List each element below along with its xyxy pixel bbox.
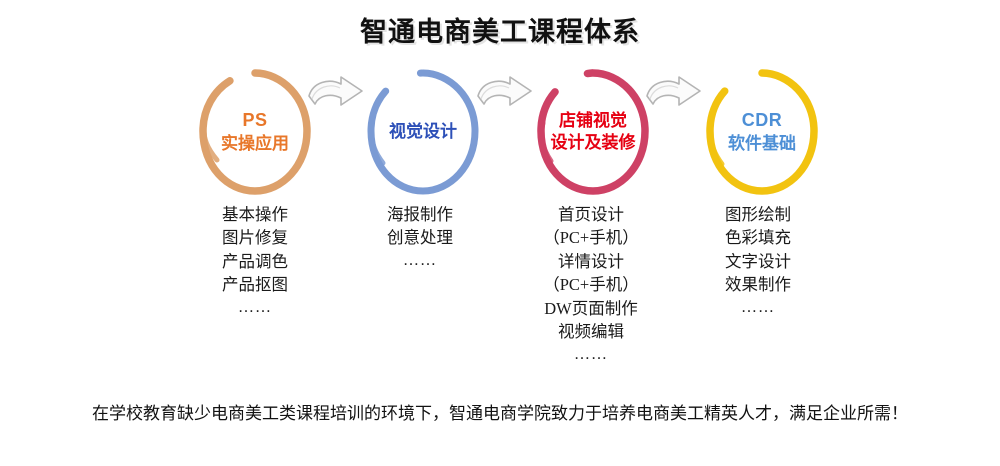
list-item: （PC+手机） <box>496 226 686 249</box>
list-item: （PC+手机） <box>496 273 686 296</box>
flow-node-label: 视觉设计 <box>361 68 485 196</box>
list-item: 文字设计 <box>663 250 853 273</box>
list-ellipsis: …… <box>663 297 853 320</box>
list-item: 基本操作 <box>160 203 350 226</box>
flow-node-store-visual[interactable]: 店铺视觉 设计及装修 <box>531 68 655 196</box>
footer-tagline: 在学校教育缺少电商美工类课程培训的环境下，智通电商学院致力于培养电商美工精英人才… <box>0 399 1000 424</box>
list-item: 产品抠图 <box>160 273 350 296</box>
flow-node-label: PS 实操应用 <box>193 68 317 196</box>
flow-node-ps[interactable]: PS 实操应用 <box>193 68 317 196</box>
flow-node-line1: PS <box>242 109 267 132</box>
list-item: 视频编辑 <box>496 320 686 343</box>
flow-node-line2: 软件基础 <box>728 133 796 155</box>
list-item: 创意处理 <box>325 226 515 249</box>
course-list-cdr: 图形绘制 色彩填充 文字设计 效果制作 …… <box>663 203 853 319</box>
flow-node-line2: 设计及装修 <box>551 132 636 154</box>
course-flow-diagram: PS 实操应用 视觉设计 <box>0 68 1000 198</box>
list-ellipsis: …… <box>496 344 686 367</box>
curved-arrow-icon <box>643 74 705 118</box>
list-ellipsis: …… <box>160 297 350 320</box>
curved-arrow-icon <box>474 74 536 118</box>
flow-node-label: CDR 软件基础 <box>700 68 824 196</box>
list-item: 图片修复 <box>160 226 350 249</box>
curved-arrow-icon <box>305 74 367 118</box>
list-ellipsis: …… <box>325 250 515 273</box>
flow-node-line1: 视觉设计 <box>389 121 457 143</box>
page-title: 智通电商美工课程体系 <box>0 10 1000 49</box>
flow-node-cdr[interactable]: CDR 软件基础 <box>700 68 824 196</box>
flow-node-line2: 实操应用 <box>221 133 289 155</box>
course-list-store-visual: 首页设计 （PC+手机） 详情设计 （PC+手机） DW页面制作 视频编辑 …… <box>496 203 686 366</box>
list-item: 效果制作 <box>663 273 853 296</box>
list-item: 首页设计 <box>496 203 686 226</box>
course-detail-lists: 基本操作 图片修复 产品调色 产品抠图 …… 海报制作 创意处理 …… 首页设计… <box>0 203 1000 368</box>
list-item: 详情设计 <box>496 250 686 273</box>
course-list-ps: 基本操作 图片修复 产品调色 产品抠图 …… <box>160 203 350 319</box>
flow-node-label: 店铺视觉 设计及装修 <box>531 68 655 196</box>
flow-node-line1: CDR <box>742 109 783 132</box>
flow-node-visual-design[interactable]: 视觉设计 <box>361 68 485 196</box>
list-item: DW页面制作 <box>496 297 686 320</box>
list-item: 海报制作 <box>325 203 515 226</box>
list-item: 色彩填充 <box>663 226 853 249</box>
course-list-visual-design: 海报制作 创意处理 …… <box>325 203 515 273</box>
flow-node-line1: 店铺视觉 <box>559 110 627 132</box>
list-item: 产品调色 <box>160 250 350 273</box>
list-item: 图形绘制 <box>663 203 853 226</box>
